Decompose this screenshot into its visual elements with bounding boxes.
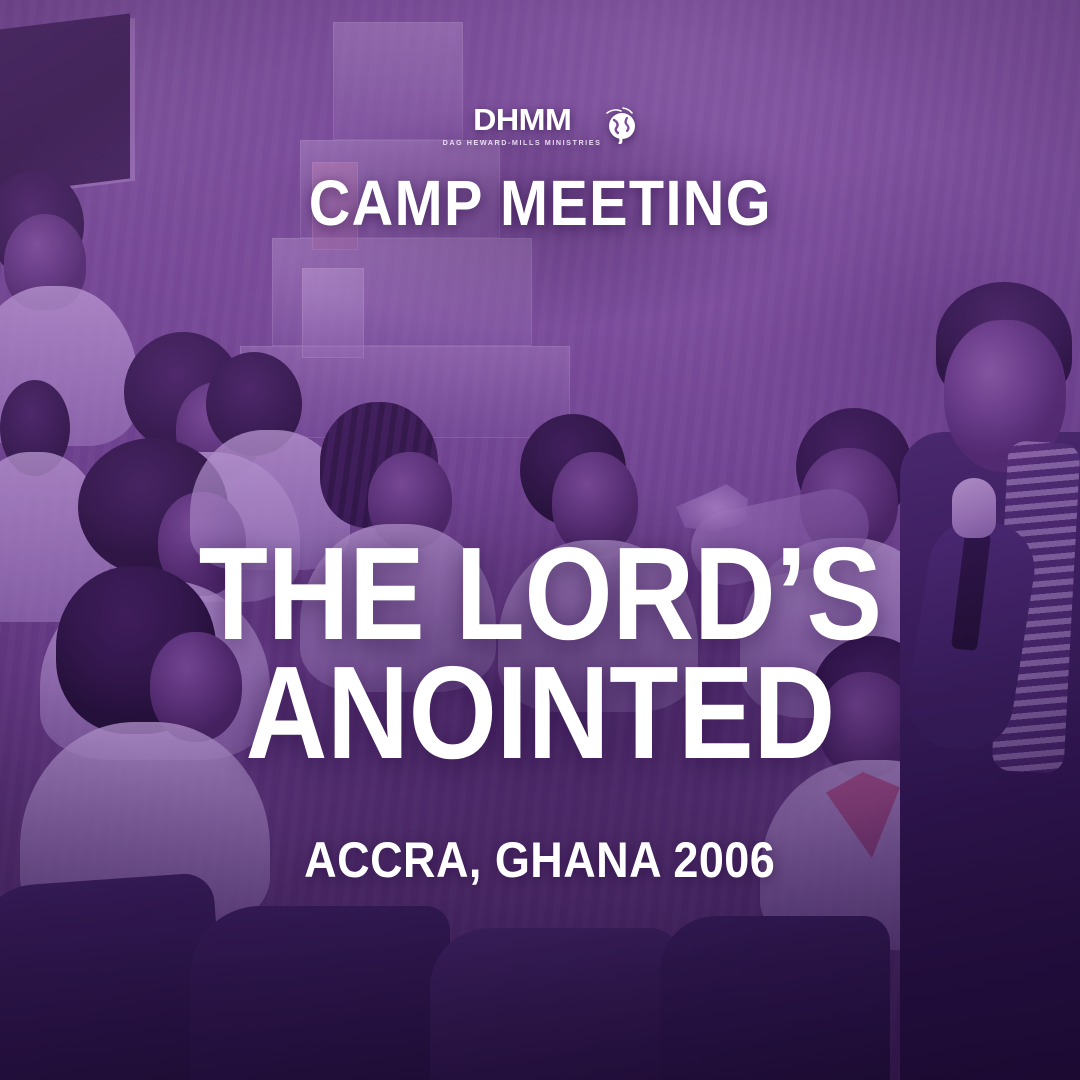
location-year: ACCRA, GHANA 2006: [304, 831, 775, 889]
poster-title: THE LORD’S ANOINTED: [198, 535, 881, 773]
poster-canvas: DHMM DAG HEWARD-MILLS MINISTRIES CAMP ME…: [0, 0, 1080, 1080]
logo-wordmark: DHMM DAG HEWARD-MILLS MINISTRIES: [443, 104, 602, 147]
event-kicker: CAMP MEETING: [308, 171, 771, 235]
globe-icon: [603, 104, 637, 144]
dhmm-logo: DHMM DAG HEWARD-MILLS MINISTRIES: [443, 104, 638, 147]
logo-word: DHMM: [473, 104, 571, 135]
logo-subtitle: DAG HEWARD-MILLS MINISTRIES: [443, 138, 602, 147]
title-line-2: ANOINTED: [198, 654, 881, 773]
poster-content: DHMM DAG HEWARD-MILLS MINISTRIES CAMP ME…: [0, 0, 1080, 1080]
